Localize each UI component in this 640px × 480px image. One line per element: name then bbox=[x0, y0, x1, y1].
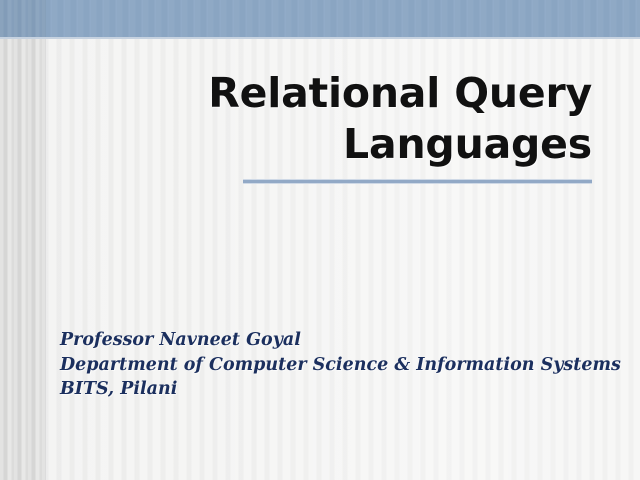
subtitle-department: Department of Computer Science & Informa… bbox=[60, 353, 600, 378]
subtitle-institution: BITS, Pilani bbox=[60, 377, 600, 402]
title-line-2: Languages bbox=[40, 119, 592, 170]
slide-title: Relational Query Languages bbox=[40, 68, 592, 170]
subtitle-presenter-name: Professor Navneet Goyal bbox=[60, 328, 600, 353]
title-line-1: Relational Query bbox=[40, 68, 592, 119]
top-banner bbox=[0, 0, 640, 37]
top-banner-underline bbox=[0, 37, 640, 39]
slide-subtitle: Professor Navneet Goyal Department of Co… bbox=[60, 328, 600, 402]
title-divider-rule bbox=[243, 179, 592, 184]
title-slide: Relational Query Languages Professor Nav… bbox=[0, 0, 640, 480]
top-banner-left-accent bbox=[0, 0, 46, 37]
